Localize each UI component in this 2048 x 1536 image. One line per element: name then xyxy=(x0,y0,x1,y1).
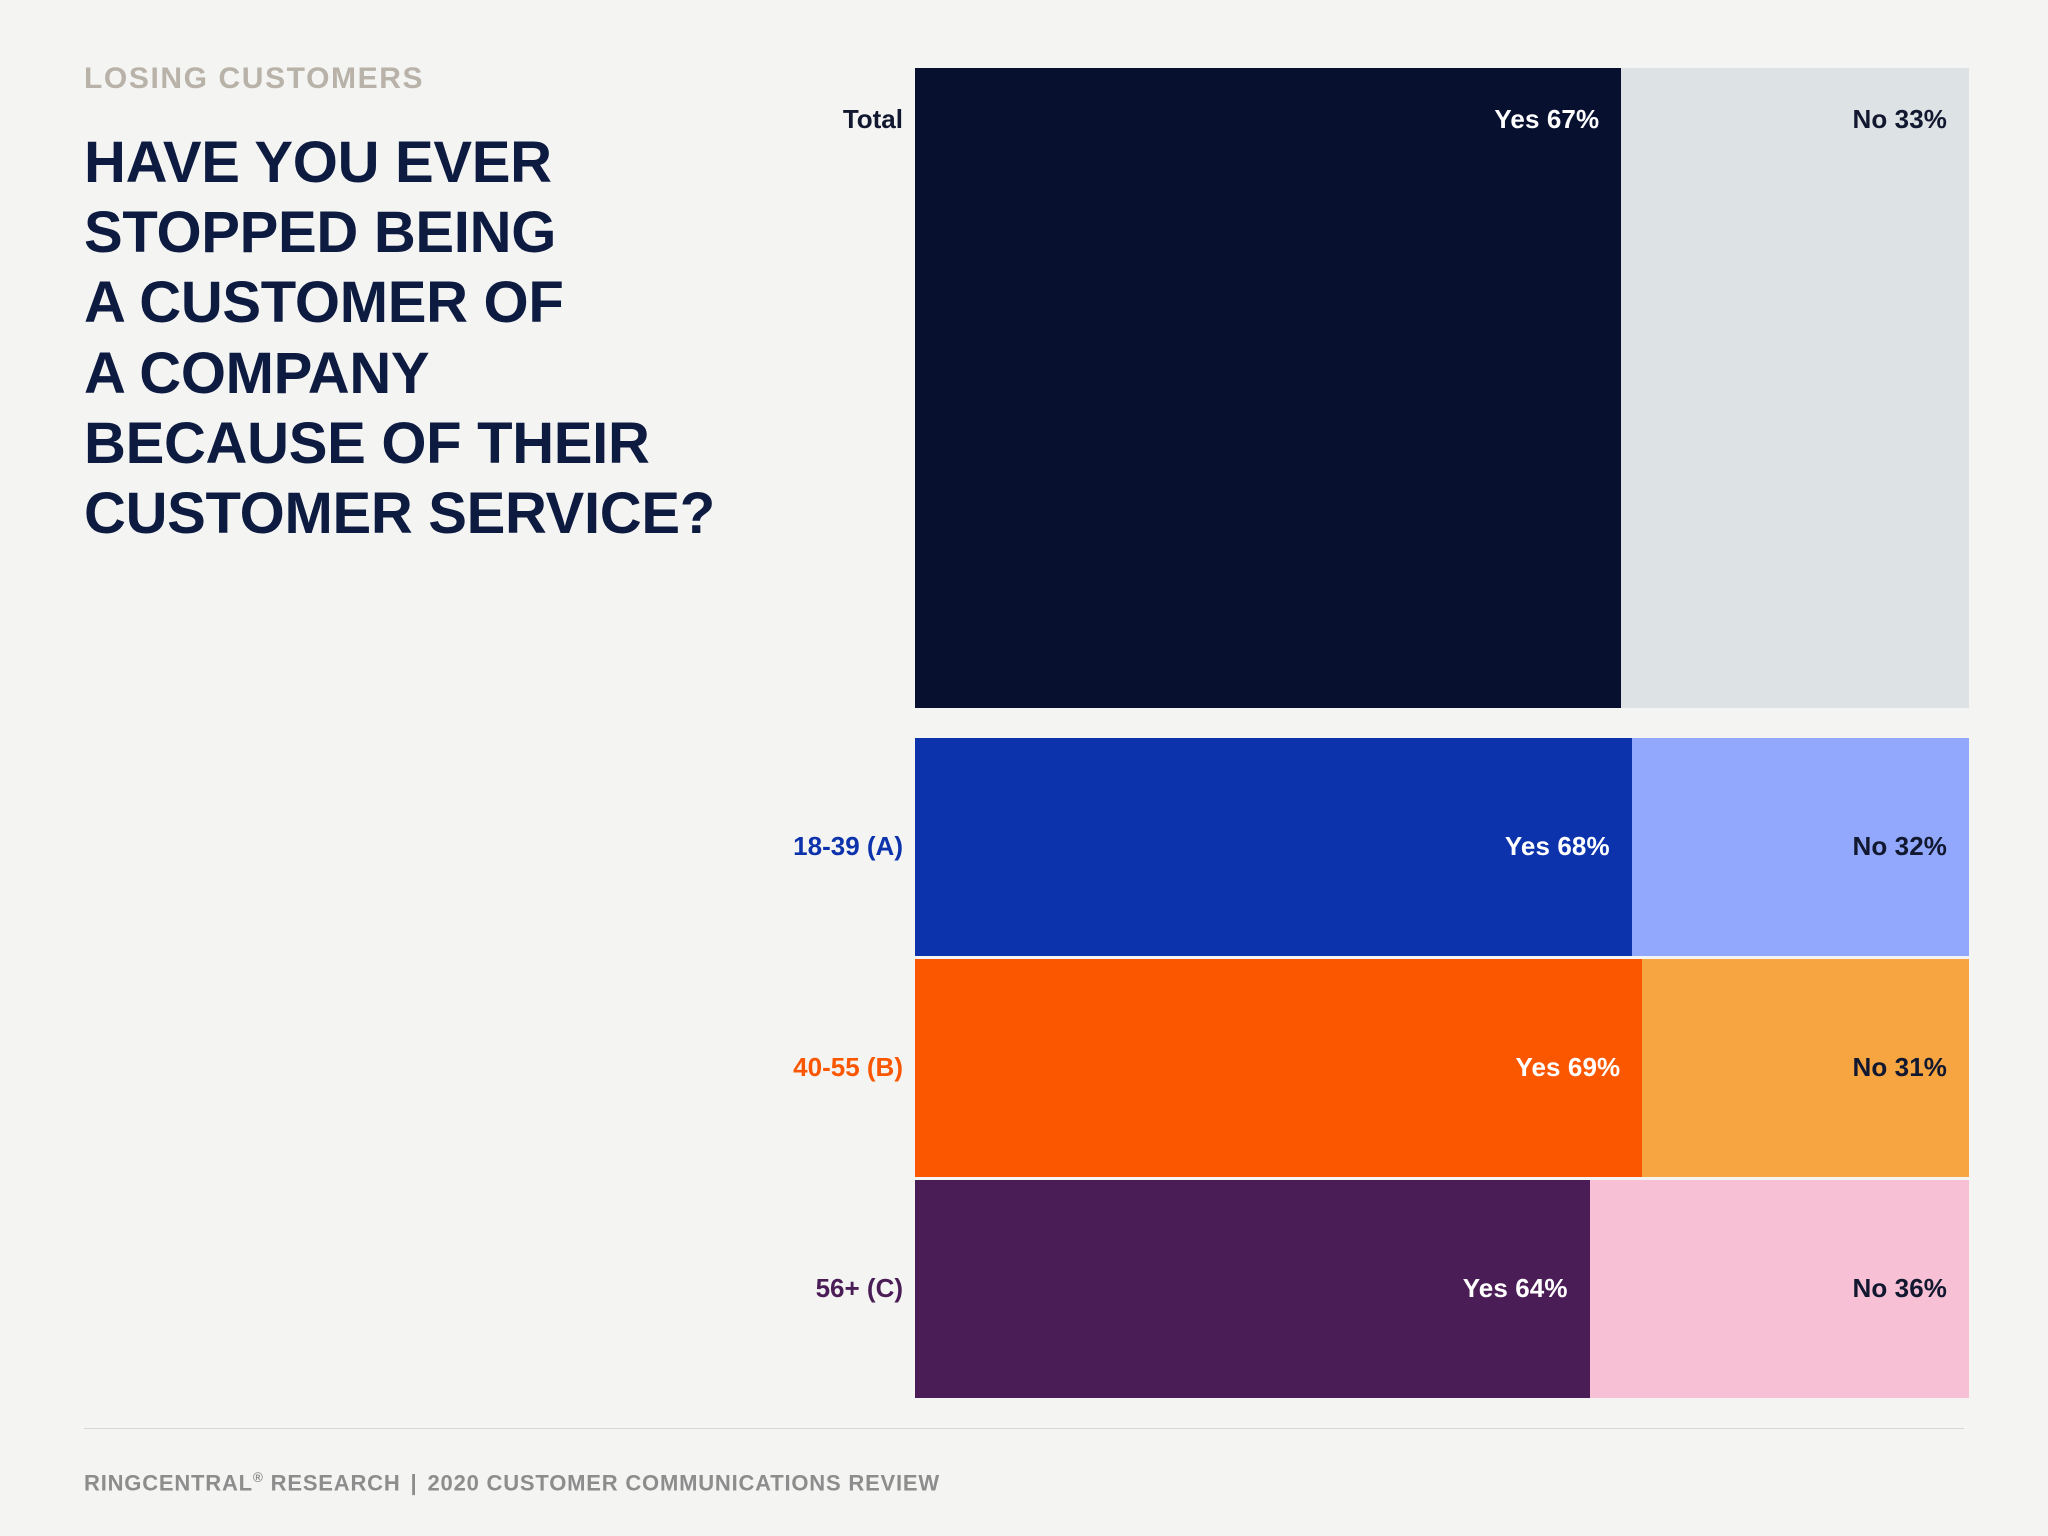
stacked-bar-chart: Total Yes 67% No 33% 18-39 (A) Yes 68% N… xyxy=(915,68,1969,1398)
headline-line-6: CUSTOMER SERVICE? xyxy=(84,479,874,549)
bar-segment-56-plus-no[interactable]: No 36% xyxy=(1590,1180,1969,1398)
row-label-total: Total xyxy=(843,104,903,135)
bar-segment-40-55-no[interactable]: No 31% xyxy=(1642,959,1969,1177)
bar-value-18-39-no: No 32% xyxy=(1852,831,1947,863)
bar-segment-total-yes[interactable]: Yes 67% xyxy=(915,68,1621,708)
bar-value-56-plus-no: No 36% xyxy=(1852,1273,1947,1305)
bar-value-total-yes: Yes 67% xyxy=(1494,104,1599,135)
chart-row-40-55: 40-55 (B) Yes 69% No 31% xyxy=(915,959,1969,1177)
headline-line-2: STOPPED BEING xyxy=(84,198,874,268)
bar-segment-56-plus-yes[interactable]: Yes 64% xyxy=(915,1180,1590,1398)
footer-brand: RINGCENTRAL xyxy=(84,1470,253,1495)
row-label-40-55: 40-55 (B) xyxy=(793,1052,903,1084)
bar-value-total-no: No 33% xyxy=(1852,104,1947,135)
headline-block: LOSING CUSTOMERS HAVE YOU EVER STOPPED B… xyxy=(84,64,874,549)
footer-brand-suffix: RESEARCH xyxy=(264,1470,401,1495)
row-label-18-39: 18-39 (A) xyxy=(793,831,903,863)
bar-value-40-55-no: No 31% xyxy=(1852,1052,1947,1084)
row-label-56-plus: 56+ (C) xyxy=(816,1273,903,1305)
bar-value-18-39-yes: Yes 68% xyxy=(1505,831,1610,863)
footer-separator: | xyxy=(401,1470,428,1495)
bar-segment-40-55-yes[interactable]: Yes 69% xyxy=(915,959,1642,1177)
bar-segment-18-39-no[interactable]: No 32% xyxy=(1632,738,1969,956)
chart-row-18-39: 18-39 (A) Yes 68% No 32% xyxy=(915,738,1969,956)
footer-credit: RINGCENTRAL® RESEARCH|2020 CUSTOMER COMM… xyxy=(84,1470,940,1496)
bar-segment-18-39-yes[interactable]: Yes 68% xyxy=(915,738,1632,956)
headline-line-4: A COMPANY xyxy=(84,339,874,409)
page-title: HAVE YOU EVER STOPPED BEING A CUSTOMER O… xyxy=(84,128,874,549)
headline-line-5: BECAUSE OF THEIR xyxy=(84,409,874,479)
slide-canvas: LOSING CUSTOMERS HAVE YOU EVER STOPPED B… xyxy=(0,0,2048,1536)
bar-value-56-plus-yes: Yes 64% xyxy=(1463,1273,1568,1305)
headline-line-1: HAVE YOU EVER xyxy=(84,128,874,198)
footer-divider xyxy=(84,1428,1964,1429)
headline-line-3: A CUSTOMER OF xyxy=(84,268,874,338)
chart-row-total: Total Yes 67% No 33% xyxy=(915,68,1969,708)
chart-row-56-plus: 56+ (C) Yes 64% No 36% xyxy=(915,1180,1969,1398)
registered-mark-icon: ® xyxy=(253,1470,264,1485)
footer-report: 2020 CUSTOMER COMMUNICATIONS REVIEW xyxy=(428,1470,940,1495)
bar-value-40-55-yes: Yes 69% xyxy=(1515,1052,1620,1084)
eyebrow-label: LOSING CUSTOMERS xyxy=(84,64,874,94)
bar-segment-total-no[interactable]: No 33% xyxy=(1621,68,1969,708)
